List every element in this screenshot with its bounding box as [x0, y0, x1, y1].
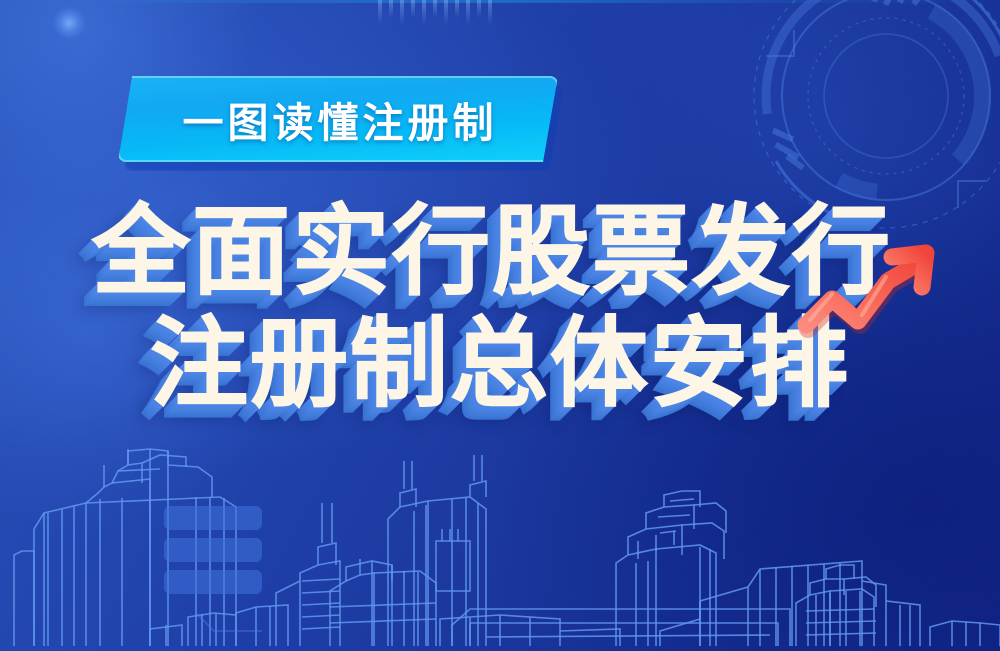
- poster-canvas: 一图读懂注册制 全面实行股票发行 注册制总体安排: [0, 0, 1000, 651]
- glow-dot: [52, 6, 86, 40]
- city-skyline-outline-icon: [0, 441, 1000, 651]
- label-banner: 一图读懂注册制: [118, 76, 558, 162]
- label-banner-text: 一图读懂注册制: [179, 89, 498, 149]
- tick-marks: [378, 0, 498, 26]
- label-banner-fill: 一图读懂注册制: [118, 76, 558, 162]
- upward-trend-arrow-icon: [796, 243, 946, 348]
